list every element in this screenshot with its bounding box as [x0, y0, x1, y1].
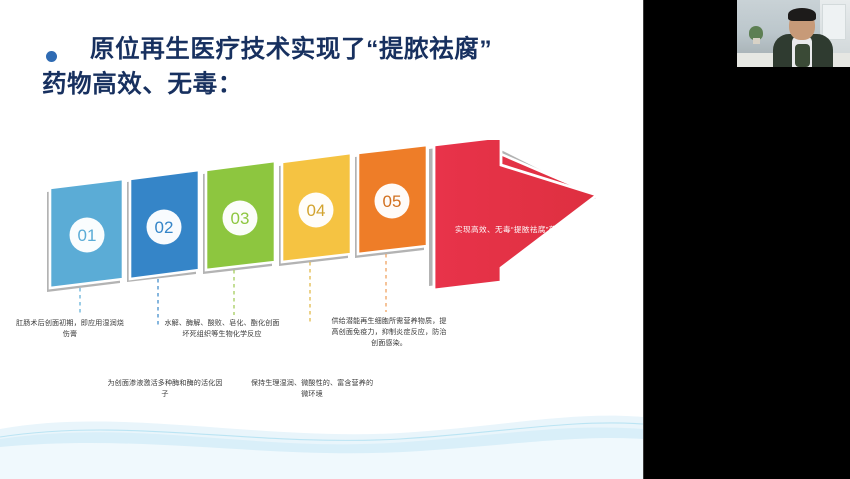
step-caption-03: 水解、酶解、酸败、皂化、酯化创面坏死组织等生物化学反应	[162, 318, 282, 340]
presentation-slide: 原位再生医疗技术实现了“提脓祛腐” 药物高效、无毒：	[0, 0, 643, 479]
process-arrow-diagram: 01 02 03 04 05 实现高效、无毒“提脓祛腐”药物清创	[0, 140, 643, 325]
slide-edge-divider	[643, 0, 644, 479]
step-number-03: 03	[231, 209, 250, 228]
screen-share-area: 原位再生医疗技术实现了“提脓祛腐” 药物高效、无毒：	[0, 0, 850, 479]
wave-layer-3	[0, 438, 643, 479]
wave-layer-1	[0, 416, 643, 479]
step-caption-05: 供给潜能再生细胞所需营养物质，提高创面免疫力，抑制炎症反应，防治创面感染。	[328, 316, 450, 349]
step-caption-02: 为创面渗液激活多种酶和酶的活化因子	[106, 378, 224, 400]
slide-wave-decoration	[0, 389, 643, 479]
webcam-person-vest	[795, 44, 810, 67]
step-caption-01: 肛肠术后创面初期，即应用湿润烧伤膏	[14, 318, 126, 340]
slide-title-line-1: 原位再生医疗技术实现了“提脓祛腐”	[38, 33, 618, 68]
step-number-02: 02	[155, 218, 174, 237]
presenter-video-thumbnail[interactable]	[737, 0, 850, 67]
webcam-person-hair	[788, 8, 816, 21]
wave-layer-2	[0, 427, 643, 479]
step-number-05: 05	[383, 192, 402, 211]
bullet-point-icon	[46, 51, 57, 62]
slide-title: 原位再生医疗技术实现了“提脓祛腐” 药物高效、无毒：	[38, 33, 618, 103]
arrow-head-label: 实现高效、无毒“提脓祛腐”药物清创	[455, 224, 581, 234]
webcam-plant-pot	[753, 38, 760, 44]
step-caption-04: 保持生理湿润、微酸性的、富含营养的微环境	[250, 378, 374, 400]
slide-title-line-2: 药物高效、无毒：	[38, 68, 618, 103]
step-number-04: 04	[307, 201, 326, 220]
letterbox-black-area	[643, 0, 850, 479]
wave-stroke	[0, 423, 643, 440]
step-number-01: 01	[78, 226, 97, 245]
webcam-window	[822, 4, 846, 40]
